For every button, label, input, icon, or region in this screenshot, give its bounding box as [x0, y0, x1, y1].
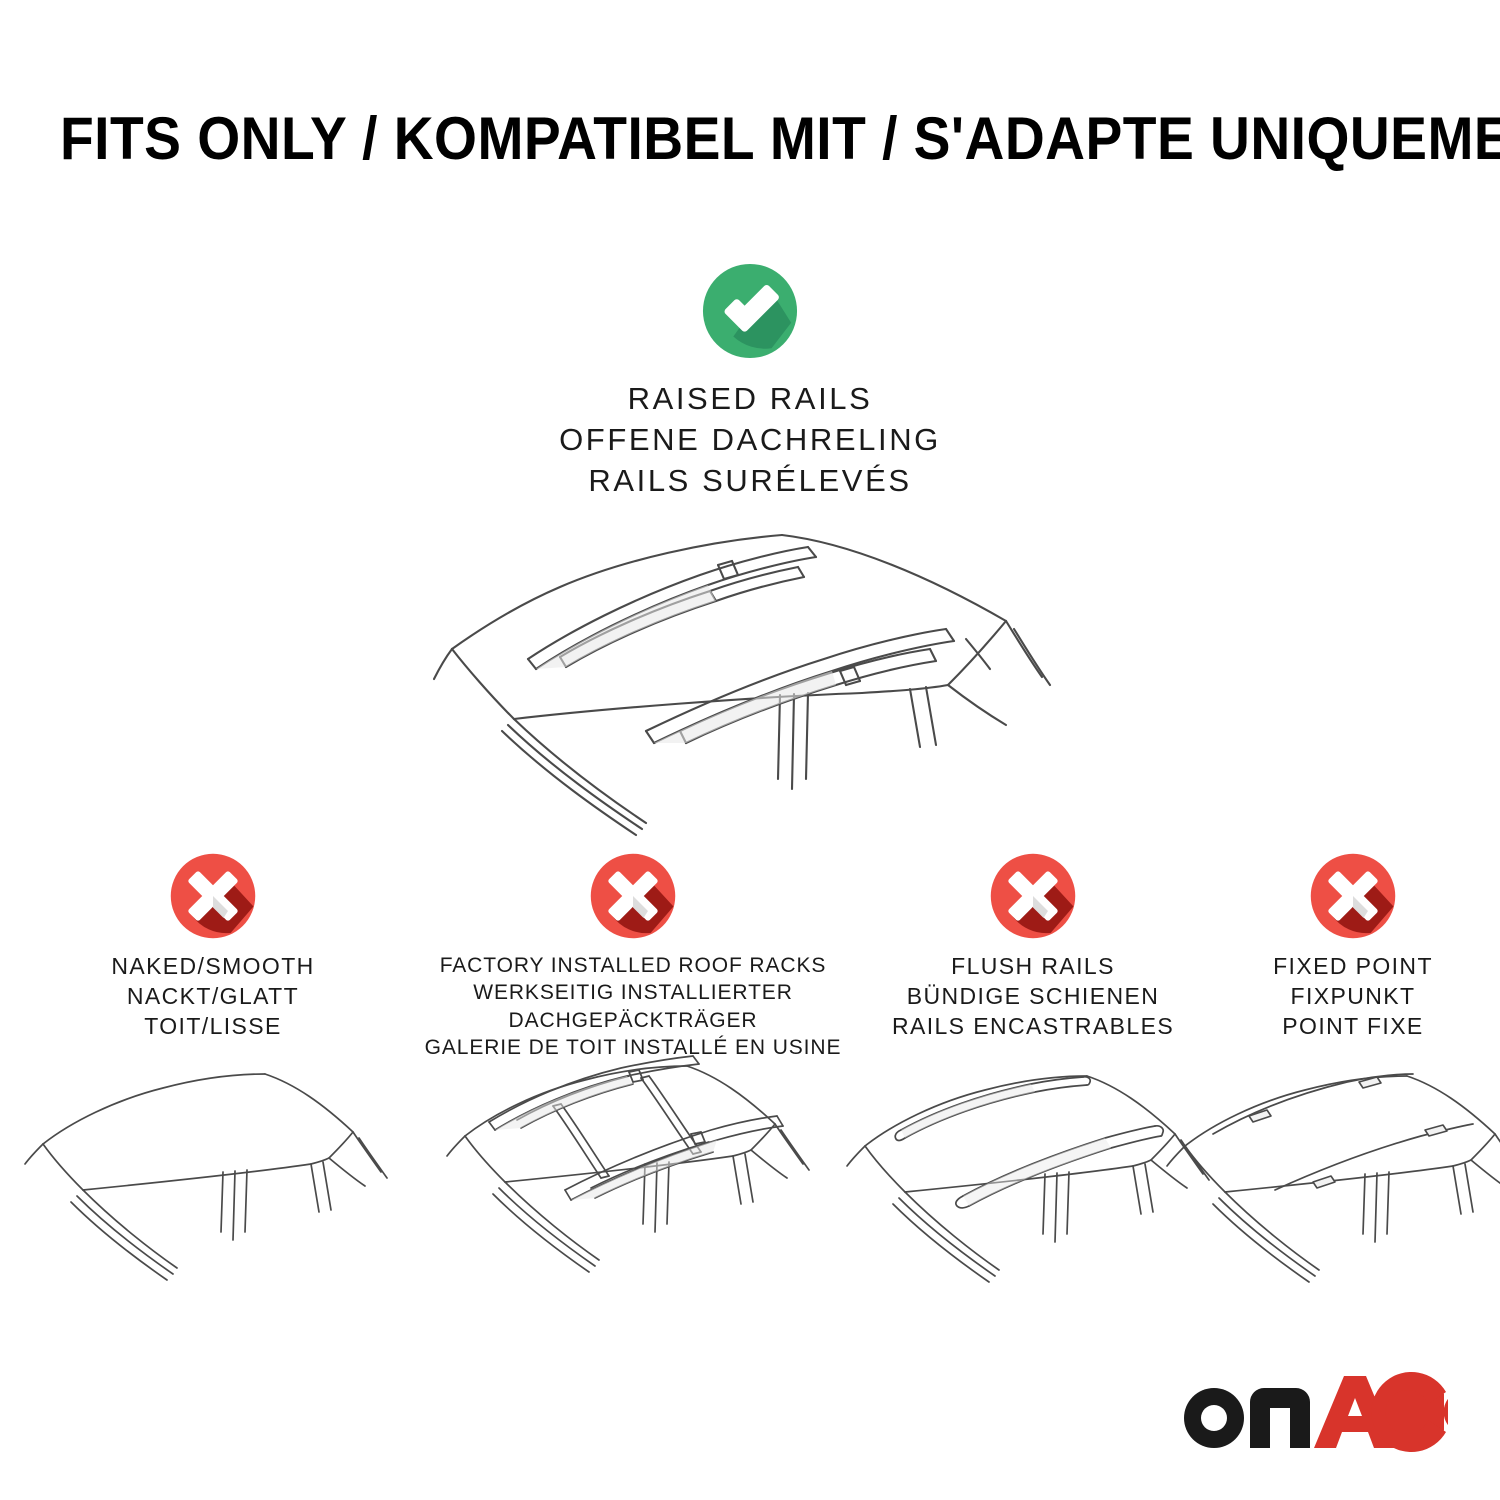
label-en: FIXED POINT	[1208, 952, 1498, 982]
car-roof-bare-illustration	[23, 1060, 403, 1300]
car-roof-with-factory-cross-bars-illustration	[443, 1050, 823, 1290]
compatible-section: RAISED RAILS OFFENE DACHRELING RAILS SUR…	[0, 262, 1500, 502]
label-en: NAKED/SMOOTH	[18, 952, 408, 982]
incompatible-labels: FACTORY INSTALLED ROOF RACKS WERKSEITIG …	[408, 952, 858, 1061]
omac-logo	[1178, 1372, 1448, 1452]
car-roof-with-fixed-points-illustration	[1163, 1060, 1500, 1300]
compatible-label-fr: RAILS SURÉLEVÉS	[0, 460, 1500, 501]
incompatible-labels: FIXED POINT FIXPUNKT POINT FIXE	[1208, 952, 1498, 1042]
x-circle-icon	[1309, 852, 1397, 940]
label-fr: RAILS ENCASTRABLES	[858, 1012, 1208, 1042]
label-en: FLUSH RAILS	[858, 952, 1208, 982]
incompatible-item-factory-roof-racks: FACTORY INSTALLED ROOF RACKS WERKSEITIG …	[408, 852, 858, 1061]
compatible-label-en: RAISED RAILS	[0, 378, 1500, 419]
label-de: FIXPUNKT	[1208, 982, 1498, 1012]
incompatible-item-naked-smooth: NAKED/SMOOTH NACKT/GLATT TOIT/LISSE	[18, 852, 408, 1042]
x-circle-icon	[989, 852, 1077, 940]
x-circle-icon	[169, 852, 257, 940]
incompatible-item-flush-rails: FLUSH RAILS BÜNDIGE SCHIENEN RAILS ENCAS…	[858, 852, 1208, 1042]
label-de: BÜNDIGE SCHIENEN	[858, 982, 1208, 1012]
label-en: FACTORY INSTALLED ROOF RACKS	[408, 952, 858, 979]
x-circle-icon	[589, 852, 677, 940]
compatible-labels: RAISED RAILS OFFENE DACHRELING RAILS SUR…	[0, 378, 1500, 502]
compatible-label-de: OFFENE DACHRELING	[0, 419, 1500, 460]
label-de: NACKT/GLATT	[18, 982, 408, 1012]
label-de-2: DACHGEPÄCKTRÄGER	[408, 1007, 858, 1034]
incompatible-labels: FLUSH RAILS BÜNDIGE SCHIENEN RAILS ENCAS…	[858, 952, 1208, 1042]
incompatible-item-fixed-point: FIXED POINT FIXPUNKT POINT FIXE	[1208, 852, 1498, 1042]
page-title: FITS ONLY / KOMPATIBEL MIT / S'ADAPTE UN…	[60, 104, 1440, 173]
car-roof-with-raised-rails-illustration	[410, 517, 1090, 837]
incompatible-section: NAKED/SMOOTH NACKT/GLATT TOIT/LISSE	[0, 852, 1500, 1322]
label-fr: TOIT/LISSE	[18, 1012, 408, 1042]
label-de-1: WERKSEITIG INSTALLIERTER	[408, 979, 858, 1006]
label-fr: POINT FIXE	[1208, 1012, 1498, 1042]
check-circle-icon	[701, 262, 799, 360]
incompatible-labels: NAKED/SMOOTH NACKT/GLATT TOIT/LISSE	[18, 952, 408, 1042]
